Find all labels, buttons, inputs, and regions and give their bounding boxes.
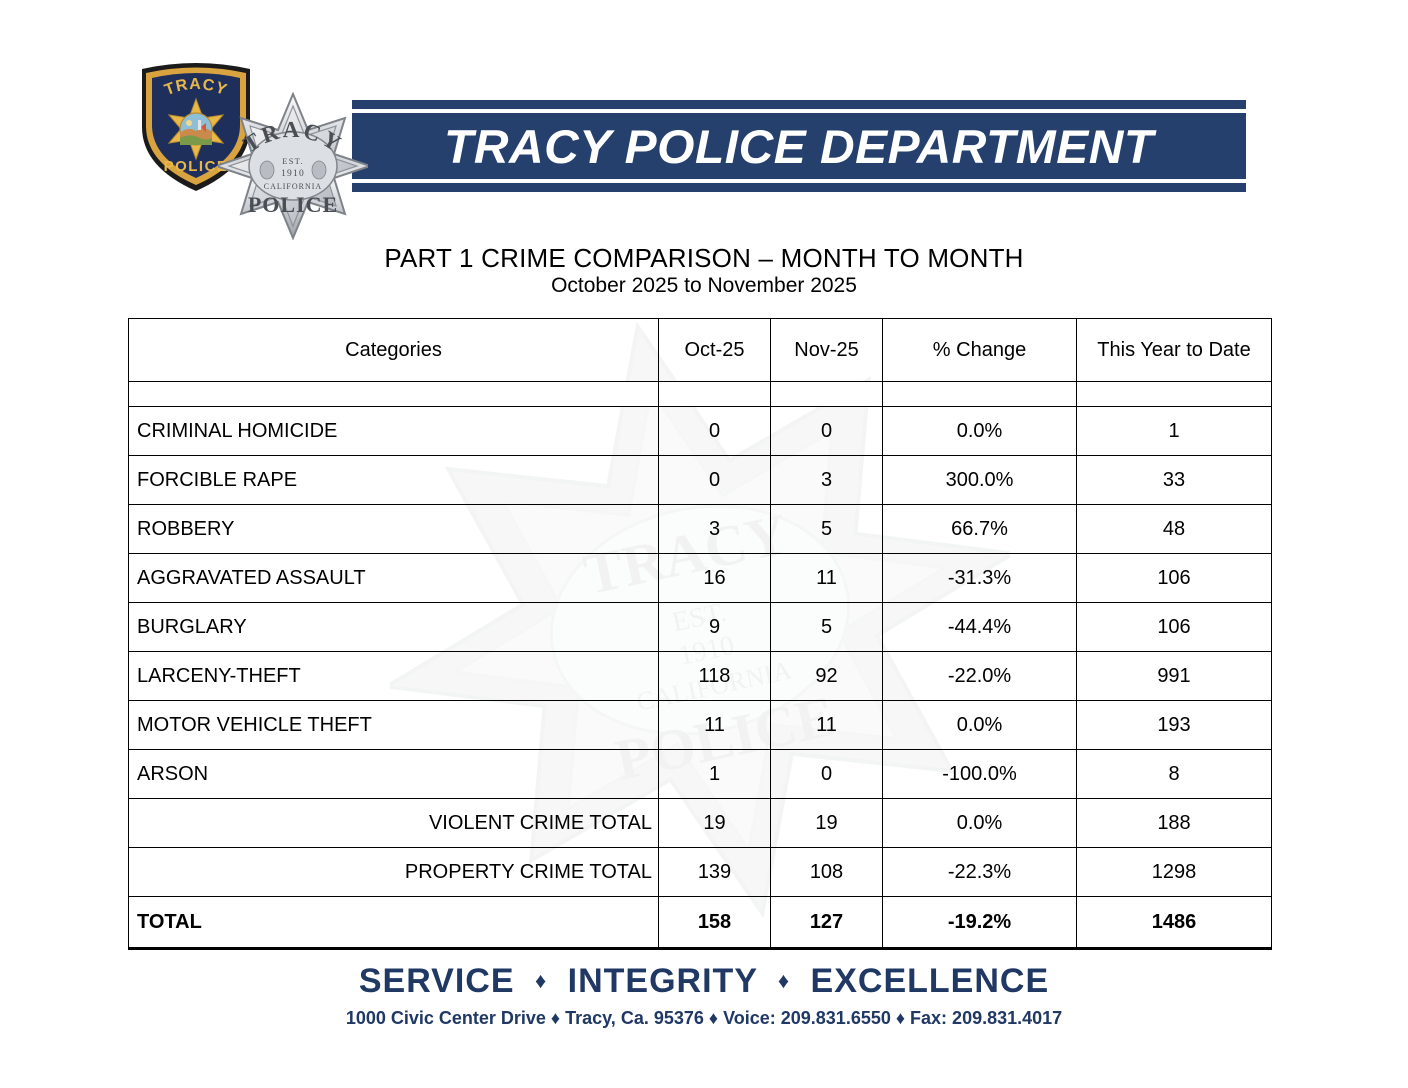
row-change-cell: -31.3% [883, 554, 1077, 603]
column-header-year-to-date: This Year to Date [1077, 319, 1272, 382]
table-body: CRIMINAL HOMICIDE000.0%1FORCIBLE RAPE033… [129, 382, 1272, 949]
table-header: Categories Oct-25 Nov-25 % Change This Y… [129, 319, 1272, 382]
badge-state-text: CALIFORNIA [264, 182, 322, 191]
row-category-cell: PROPERTY CRIME TOTAL [129, 848, 659, 897]
tracy-police-star-badge-icon: TRACY EST. 1910 CALIFORNIA POLICE [218, 92, 368, 240]
banner-stripe-bottom [352, 183, 1246, 192]
row-change-cell: 0.0% [883, 701, 1077, 750]
row-nov-cell: 19 [771, 799, 883, 848]
page-footer: SERVICE ♦ INTEGRITY ♦ EXCELLENCE 1000 Ci… [0, 962, 1408, 1029]
page-header: TRACY POLICE DEPARTMENT TRACY POLICE [0, 0, 1408, 230]
row-change-cell: -100.0% [883, 750, 1077, 799]
row-category-cell: TOTAL [129, 897, 659, 949]
spacer-cell-category [129, 382, 659, 407]
motto-separator-1: ♦ [525, 968, 557, 993]
motto-word-service: SERVICE [359, 962, 515, 1000]
row-change-cell: -22.0% [883, 652, 1077, 701]
row-nov-cell: 127 [771, 897, 883, 949]
spacer-cell-nov [771, 382, 883, 407]
table-row: CRIMINAL HOMICIDE000.0%1 [129, 407, 1272, 456]
document-title: PART 1 CRIME COMPARISON – MONTH TO MONTH [0, 243, 1408, 274]
row-category-cell: ROBBERY [129, 505, 659, 554]
row-nov-cell: 11 [771, 701, 883, 750]
banner-title: TRACY POLICE DEPARTMENT [444, 119, 1154, 174]
row-category-cell: VIOLENT CRIME TOTAL [129, 799, 659, 848]
table-row: TOTAL158127-19.2%1486 [129, 897, 1272, 949]
row-nov-cell: 0 [771, 407, 883, 456]
row-nov-cell: 108 [771, 848, 883, 897]
row-change-cell: 0.0% [883, 799, 1077, 848]
footer-address: 1000 Civic Center Drive ♦ Tracy, Ca. 953… [0, 1008, 1408, 1029]
row-oct-cell: 1 [659, 750, 771, 799]
badge-bottom-text: POLICE [248, 192, 338, 217]
row-ytd-cell: 991 [1077, 652, 1272, 701]
column-header-nov: Nov-25 [771, 319, 883, 382]
document-subtitle: October 2025 to November 2025 [0, 274, 1408, 298]
row-oct-cell: 0 [659, 456, 771, 505]
row-ytd-cell: 1 [1077, 407, 1272, 456]
badge-est-text: EST. [282, 156, 303, 166]
row-ytd-cell: 1298 [1077, 848, 1272, 897]
table-row: PROPERTY CRIME TOTAL139108-22.3%1298 [129, 848, 1272, 897]
row-nov-cell: 5 [771, 603, 883, 652]
row-change-cell: 300.0% [883, 456, 1077, 505]
row-oct-cell: 11 [659, 701, 771, 750]
table-spacer-row [129, 382, 1272, 407]
row-oct-cell: 3 [659, 505, 771, 554]
row-nov-cell: 92 [771, 652, 883, 701]
row-ytd-cell: 106 [1077, 603, 1272, 652]
badge-year-text: 1910 [281, 169, 305, 179]
row-category-cell: LARCENY-THEFT [129, 652, 659, 701]
row-change-cell: -22.3% [883, 848, 1077, 897]
row-nov-cell: 11 [771, 554, 883, 603]
row-category-cell: FORCIBLE RAPE [129, 456, 659, 505]
table-header-row: Categories Oct-25 Nov-25 % Change This Y… [129, 319, 1272, 382]
row-oct-cell: 16 [659, 554, 771, 603]
row-nov-cell: 5 [771, 505, 883, 554]
row-category-cell: AGGRAVATED ASSAULT [129, 554, 659, 603]
row-category-cell: BURGLARY [129, 603, 659, 652]
row-oct-cell: 118 [659, 652, 771, 701]
table-row: LARCENY-THEFT11892-22.0%991 [129, 652, 1272, 701]
banner-stripe-top [352, 100, 1246, 109]
row-change-cell: 66.7% [883, 505, 1077, 554]
column-header-percent-change: % Change [883, 319, 1077, 382]
table-row: ROBBERY3566.7%48 [129, 505, 1272, 554]
row-ytd-cell: 8 [1077, 750, 1272, 799]
row-oct-cell: 19 [659, 799, 771, 848]
row-change-cell: -44.4% [883, 603, 1077, 652]
row-category-cell: ARSON [129, 750, 659, 799]
row-ytd-cell: 33 [1077, 456, 1272, 505]
motto-word-integrity: INTEGRITY [568, 962, 758, 1000]
crime-comparison-table-container: Categories Oct-25 Nov-25 % Change This Y… [128, 318, 1271, 950]
table-row: AGGRAVATED ASSAULT1611-31.3%106 [129, 554, 1272, 603]
column-header-oct: Oct-25 [659, 319, 771, 382]
row-oct-cell: 139 [659, 848, 771, 897]
banner-main: TRACY POLICE DEPARTMENT [352, 113, 1246, 179]
spacer-cell-ytd [1077, 382, 1272, 407]
footer-motto: SERVICE ♦ INTEGRITY ♦ EXCELLENCE [0, 962, 1408, 1001]
row-ytd-cell: 106 [1077, 554, 1272, 603]
row-category-cell: CRIMINAL HOMICIDE [129, 407, 659, 456]
spacer-cell-oct [659, 382, 771, 407]
row-ytd-cell: 48 [1077, 505, 1272, 554]
row-oct-cell: 158 [659, 897, 771, 949]
row-change-cell: 0.0% [883, 407, 1077, 456]
table-row: BURGLARY95-44.4%106 [129, 603, 1272, 652]
table-row: VIOLENT CRIME TOTAL19190.0%188 [129, 799, 1272, 848]
department-banner: TRACY POLICE DEPARTMENT [352, 100, 1246, 192]
spacer-cell-change [883, 382, 1077, 407]
row-ytd-cell: 188 [1077, 799, 1272, 848]
row-category-cell: MOTOR VEHICLE THEFT [129, 701, 659, 750]
table-row: ARSON10-100.0%8 [129, 750, 1272, 799]
row-ytd-cell: 1486 [1077, 897, 1272, 949]
row-oct-cell: 9 [659, 603, 771, 652]
motto-word-excellence: EXCELLENCE [811, 962, 1050, 1000]
row-change-cell: -19.2% [883, 897, 1077, 949]
column-header-categories: Categories [129, 319, 659, 382]
row-oct-cell: 0 [659, 407, 771, 456]
table-row: MOTOR VEHICLE THEFT11110.0%193 [129, 701, 1272, 750]
row-nov-cell: 3 [771, 456, 883, 505]
row-nov-cell: 0 [771, 750, 883, 799]
table-row: FORCIBLE RAPE03300.0%33 [129, 456, 1272, 505]
row-ytd-cell: 193 [1077, 701, 1272, 750]
crime-comparison-table: Categories Oct-25 Nov-25 % Change This Y… [128, 318, 1272, 950]
motto-separator-2: ♦ [768, 968, 800, 993]
